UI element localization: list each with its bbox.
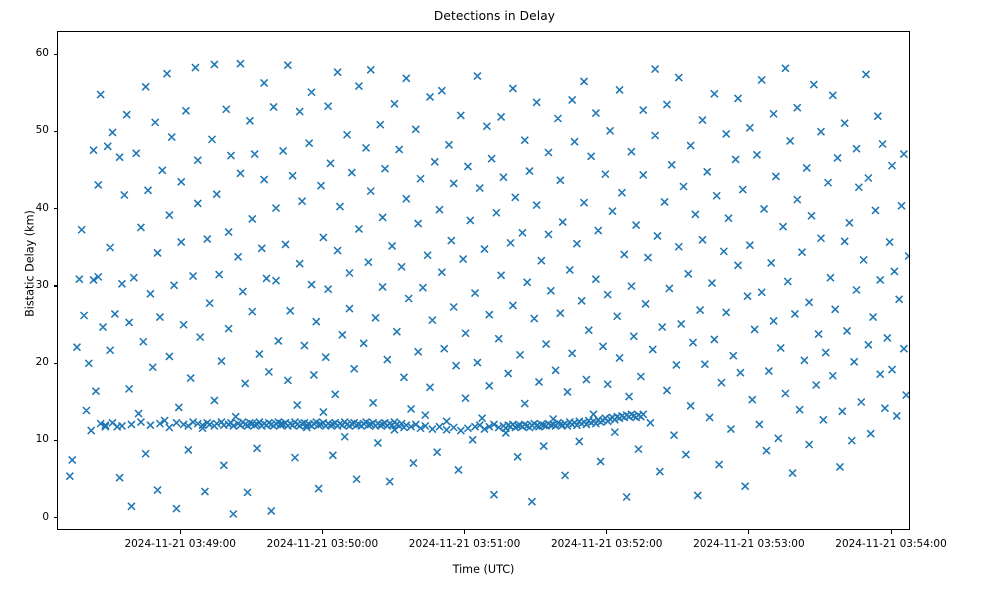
x-tick-mark bbox=[322, 530, 323, 534]
y-tick-mark bbox=[54, 517, 58, 518]
x-tick-mark bbox=[748, 530, 749, 534]
x-tick-label: 2024-11-21 03:54:00 bbox=[811, 538, 971, 550]
y-tick-mark bbox=[54, 54, 58, 55]
y-tick-mark bbox=[54, 208, 58, 209]
x-axis-label: Time (UTC) bbox=[57, 563, 910, 576]
x-tick-label: 2024-11-21 03:51:00 bbox=[385, 538, 545, 550]
x-tick-label: 2024-11-21 03:49:00 bbox=[100, 538, 260, 550]
y-axis-label: Bistatic Delay (km) bbox=[24, 154, 37, 374]
scatter-plot-figure: Detections in Delay 0102030405060 2024-1… bbox=[0, 0, 989, 590]
y-tick-label: 50 bbox=[9, 124, 49, 136]
x-tick-label: 2024-11-21 03:52:00 bbox=[527, 538, 687, 550]
plot-area bbox=[57, 31, 910, 530]
data-points-layer bbox=[58, 32, 910, 530]
y-tick-mark bbox=[54, 131, 58, 132]
y-tick-label: 0 bbox=[9, 511, 49, 523]
x-tick-label: 2024-11-21 03:53:00 bbox=[669, 538, 829, 550]
y-tick-mark bbox=[54, 363, 58, 364]
x-tick-label: 2024-11-21 03:50:00 bbox=[242, 538, 402, 550]
y-tick-mark bbox=[54, 440, 58, 441]
y-tick-mark bbox=[54, 285, 58, 286]
x-tick-mark bbox=[464, 530, 465, 534]
y-tick-label: 10 bbox=[9, 433, 49, 445]
x-tick-mark bbox=[891, 530, 892, 534]
page-title: Detections in Delay bbox=[0, 9, 989, 23]
scatter-markers bbox=[66, 60, 910, 517]
x-tick-mark bbox=[180, 530, 181, 534]
y-tick-label: 60 bbox=[9, 47, 49, 59]
x-tick-mark bbox=[606, 530, 607, 534]
